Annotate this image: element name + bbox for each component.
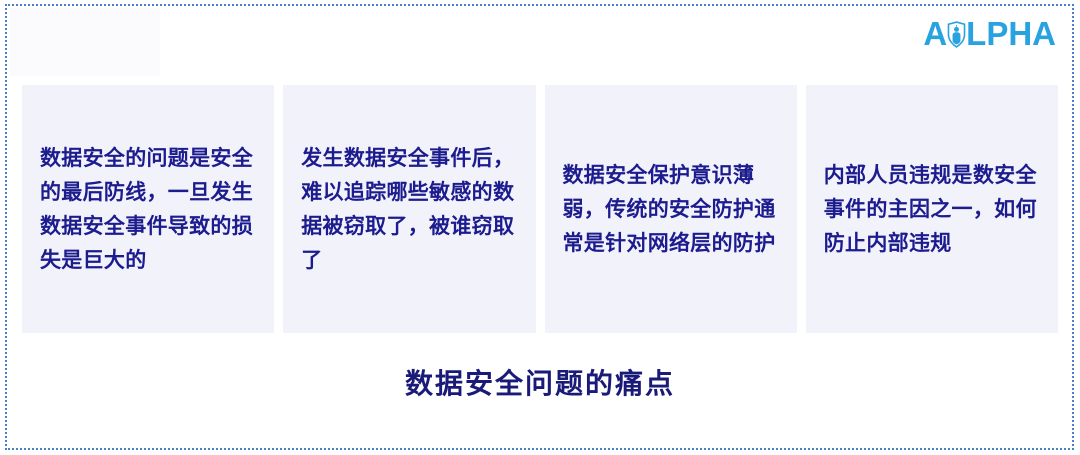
pain-point-card-1-text: 数据安全的问题是安全的最后防线，一旦发生数据安全事件导致的损失是巨大的 [40, 141, 256, 277]
pain-point-card-1: 数据安全的问题是安全的最后防线，一旦发生数据安全事件导致的损失是巨大的 [22, 85, 274, 333]
pain-point-card-4-text: 内部人员违规是数安全事件的主因之一，如何防止内部违规 [824, 158, 1040, 260]
pain-point-card-row: 数据安全的问题是安全的最后防线，一旦发生数据安全事件导致的损失是巨大的 发生数据… [22, 85, 1058, 333]
shield-person-icon [947, 21, 966, 48]
pain-point-card-4: 内部人员违规是数安全事件的主因之一，如何防止内部违规 [806, 85, 1058, 333]
slide-canvas: A LPHA 数据安全的问题是安全的最后防线，一旦发生数据安全事件导致的损失是巨… [0, 0, 1080, 455]
slide-headline: 数据安全问题的痛点 [0, 362, 1080, 402]
logo-text-prefix: A [923, 17, 947, 50]
logo-text-suffix: LPHA [966, 17, 1056, 50]
decorative-panel [10, 8, 160, 76]
alpha-logo: A LPHA [923, 13, 1056, 53]
pain-point-card-2: 发生数据安全事件后，难以追踪哪些敏感的数据被窃取了，被谁窃取了 [283, 85, 535, 333]
pain-point-card-2-text: 发生数据安全事件后，难以追踪哪些敏感的数据被窃取了，被谁窃取了 [301, 141, 517, 277]
pain-point-card-3-text: 数据安全保护意识薄弱，传统的安全防护通常是针对网络层的防护 [563, 158, 779, 260]
pain-point-card-3: 数据安全保护意识薄弱，传统的安全防护通常是针对网络层的防护 [545, 85, 797, 333]
